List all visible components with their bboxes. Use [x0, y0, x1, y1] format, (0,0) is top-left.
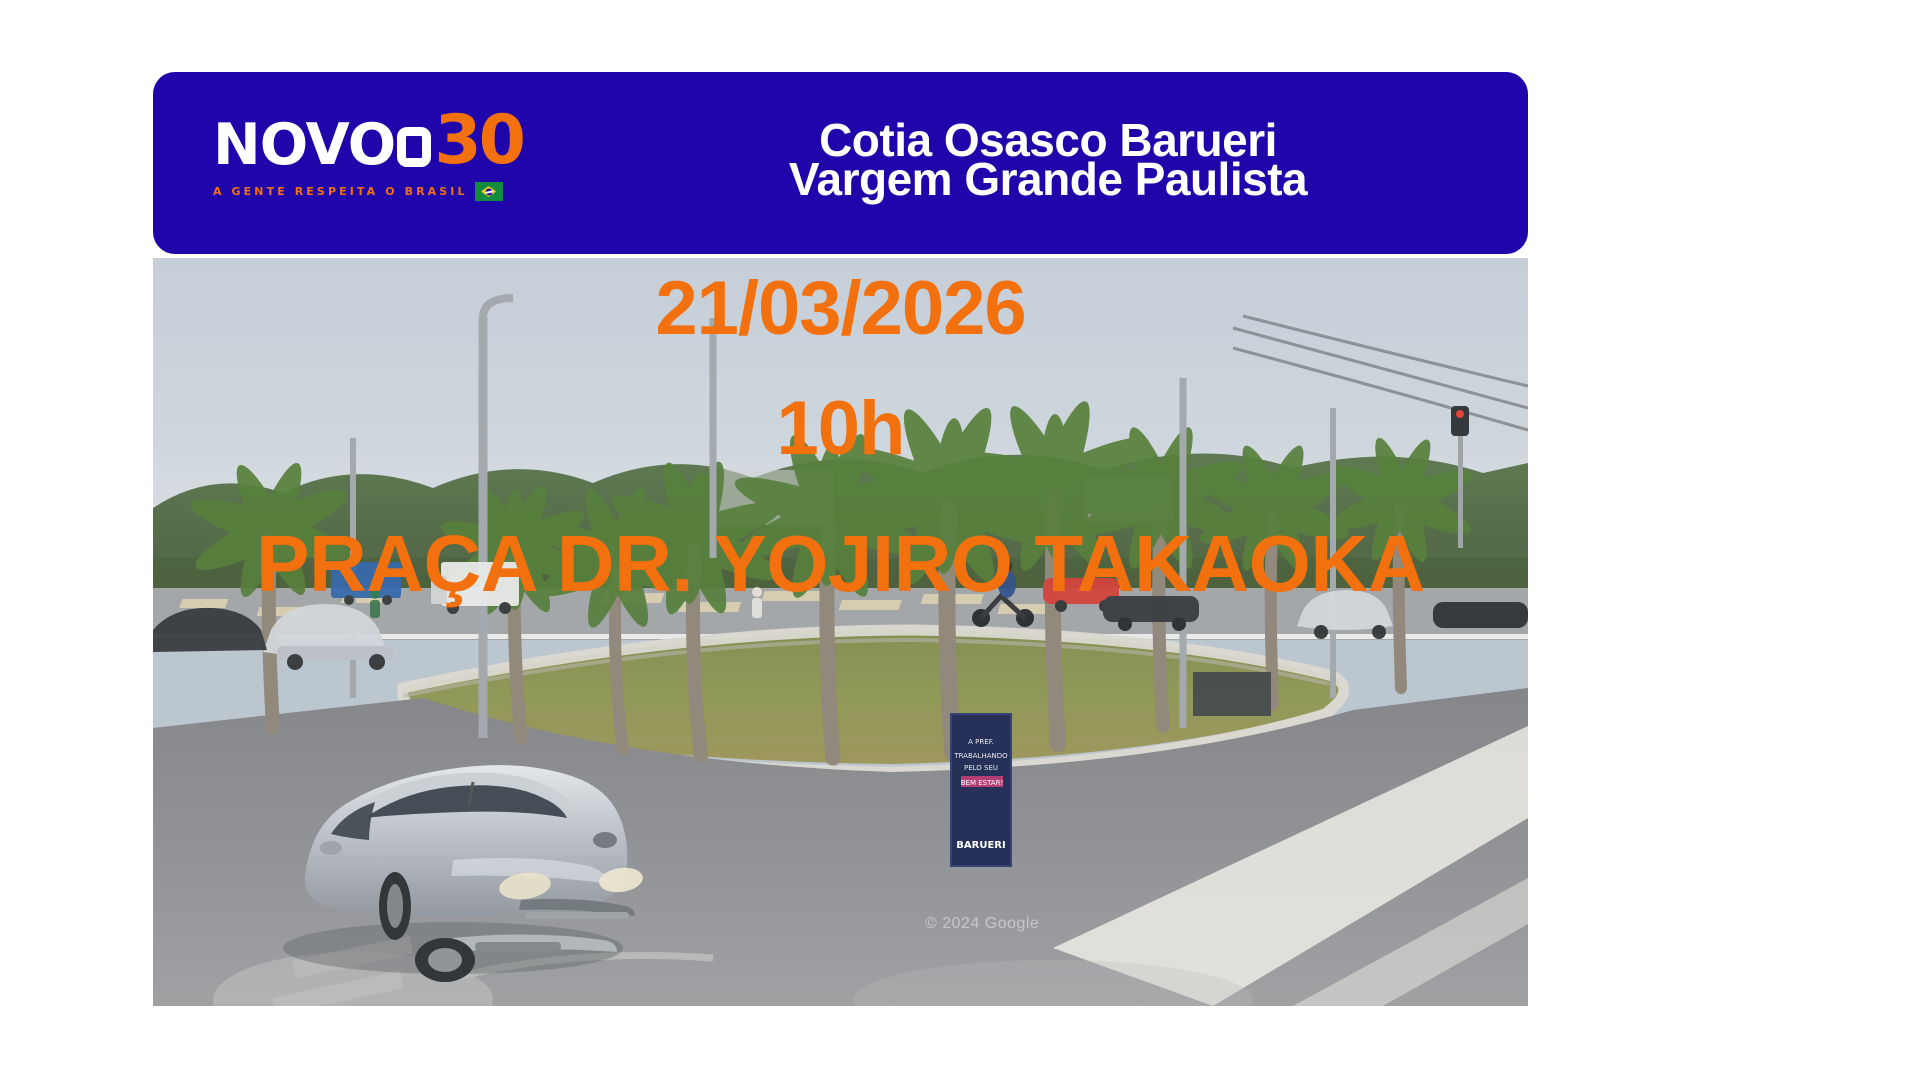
novo30-logo: NOVO 30 A GENTE RESPEITA O BRASIL	[213, 116, 523, 206]
event-place-overlay: PRAÇA DR. YOJIRO TAKAOKA	[153, 512, 1528, 616]
banner-title: Cotia Osasco Barueri Vargem Grande Pauli…	[583, 120, 1513, 199]
poster-root: NOVO 30 A GENTE RESPEITA O BRASIL Cotia …	[0, 0, 1920, 1080]
brazil-flag-icon	[475, 182, 503, 201]
banner-title-line2: Vargem Grande Paulista	[583, 159, 1513, 199]
street-scene-illustration: A PREF. TRABALHANDO PELO SEU BEM ESTAR! …	[153, 258, 1528, 1006]
event-date-overlay: 21/03/2026	[153, 266, 1528, 352]
logo-novo-text: NOVO	[213, 116, 395, 174]
logo-tagline-row: A GENTE RESPEITA O BRASIL	[213, 182, 523, 201]
event-time-overlay: 10h	[153, 386, 1528, 472]
header-banner: NOVO 30 A GENTE RESPEITA O BRASIL Cotia …	[153, 72, 1528, 254]
google-watermark: © 2024 Google	[925, 915, 1039, 933]
street-view-photo: A PREF. TRABALHANDO PELO SEU BEM ESTAR! …	[153, 258, 1528, 1006]
logo-number-text: 30	[434, 112, 523, 170]
logo-square-icon	[397, 127, 431, 167]
logo-wordmark-row: NOVO 30	[213, 116, 523, 176]
logo-tagline-text: A GENTE RESPEITA O BRASIL	[213, 185, 468, 198]
